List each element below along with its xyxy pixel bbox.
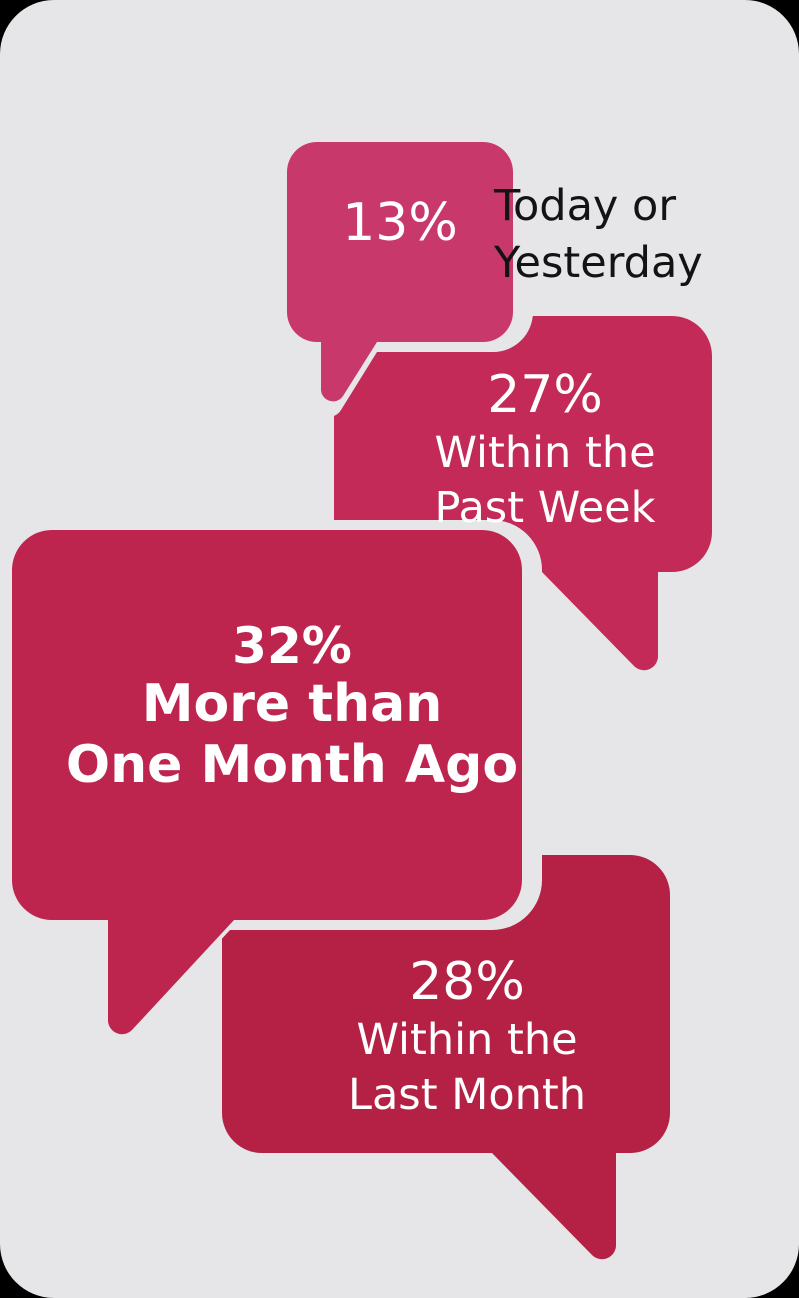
bubble-desc-more-than-one-month-ago-line2: One Month Ago (52, 735, 532, 796)
bubble-percent-more-than-one-month-ago: 32% (52, 620, 532, 672)
bubble-desc-more-than-one-month-ago-line1: More than (52, 674, 532, 735)
bubble-caption-today-or-yesterday: Today or Yesterday (494, 178, 744, 292)
bubble-desc-within-last-month-line2: Last Month (262, 1068, 672, 1123)
bubble-percent-within-past-week: 27% (378, 368, 712, 422)
card-surface: 13% Today or Yesterday 27% Within the Pa… (0, 0, 799, 1298)
bubble-percent-within-last-month: 28% (262, 955, 672, 1009)
bubble-desc-within-last-month-line1: Within the (262, 1013, 672, 1068)
infographic-root: 13% Today or Yesterday 27% Within the Pa… (0, 0, 799, 1298)
bubble-label-more-than-one-month-ago: 32% More than One Month Ago (52, 620, 532, 797)
bubble-label-within-last-month: 28% Within the Last Month (262, 955, 672, 1123)
bubble-desc-within-past-week-line2: Past Week (378, 481, 712, 536)
bubble-percent-today-or-yesterday: 13% (317, 196, 483, 250)
bubble-desc-within-past-week-line1: Within the (378, 426, 712, 481)
bubble-label-within-past-week: 27% Within the Past Week (378, 368, 712, 536)
bubble-label-today-or-yesterday: 13% (317, 196, 483, 250)
